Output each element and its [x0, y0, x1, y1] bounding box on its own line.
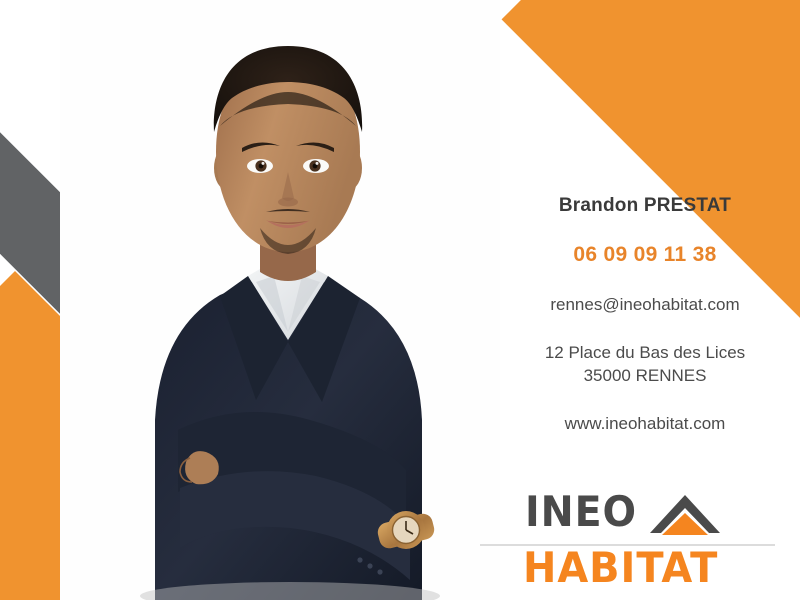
contact-email[interactable]: rennes@ineohabitat.com — [500, 296, 790, 315]
contact-address-line2: 35000 RENNES — [500, 365, 790, 388]
decor-stripe-top-right-grey — [733, 0, 800, 75]
contact-website[interactable]: www.ineohabitat.com — [500, 415, 790, 434]
contact-block: Brandon PRESTAT 06 09 09 11 38 rennes@in… — [500, 196, 790, 433]
logo-bottom-row: HABITAT — [505, 544, 785, 592]
contact-address-line1: 12 Place du Bas des Lices — [500, 342, 790, 365]
business-card: Brandon PRESTAT 06 09 09 11 38 rennes@in… — [0, 0, 800, 600]
contact-address: 12 Place du Bas des Lices 35000 RENNES — [500, 342, 790, 388]
contact-phone[interactable]: 06 09 09 11 38 — [500, 243, 790, 266]
portrait-photo — [60, 0, 500, 600]
company-logo[interactable]: INEO HABITAT — [505, 486, 785, 591]
logo-top-row: INEO — [505, 486, 785, 538]
contact-name: Brandon PRESTAT — [500, 196, 790, 217]
roof-chevron-icon — [648, 487, 722, 540]
logo-word-habitat: HABITAT — [523, 547, 718, 589]
logo-word-ineo: INEO — [525, 491, 637, 533]
